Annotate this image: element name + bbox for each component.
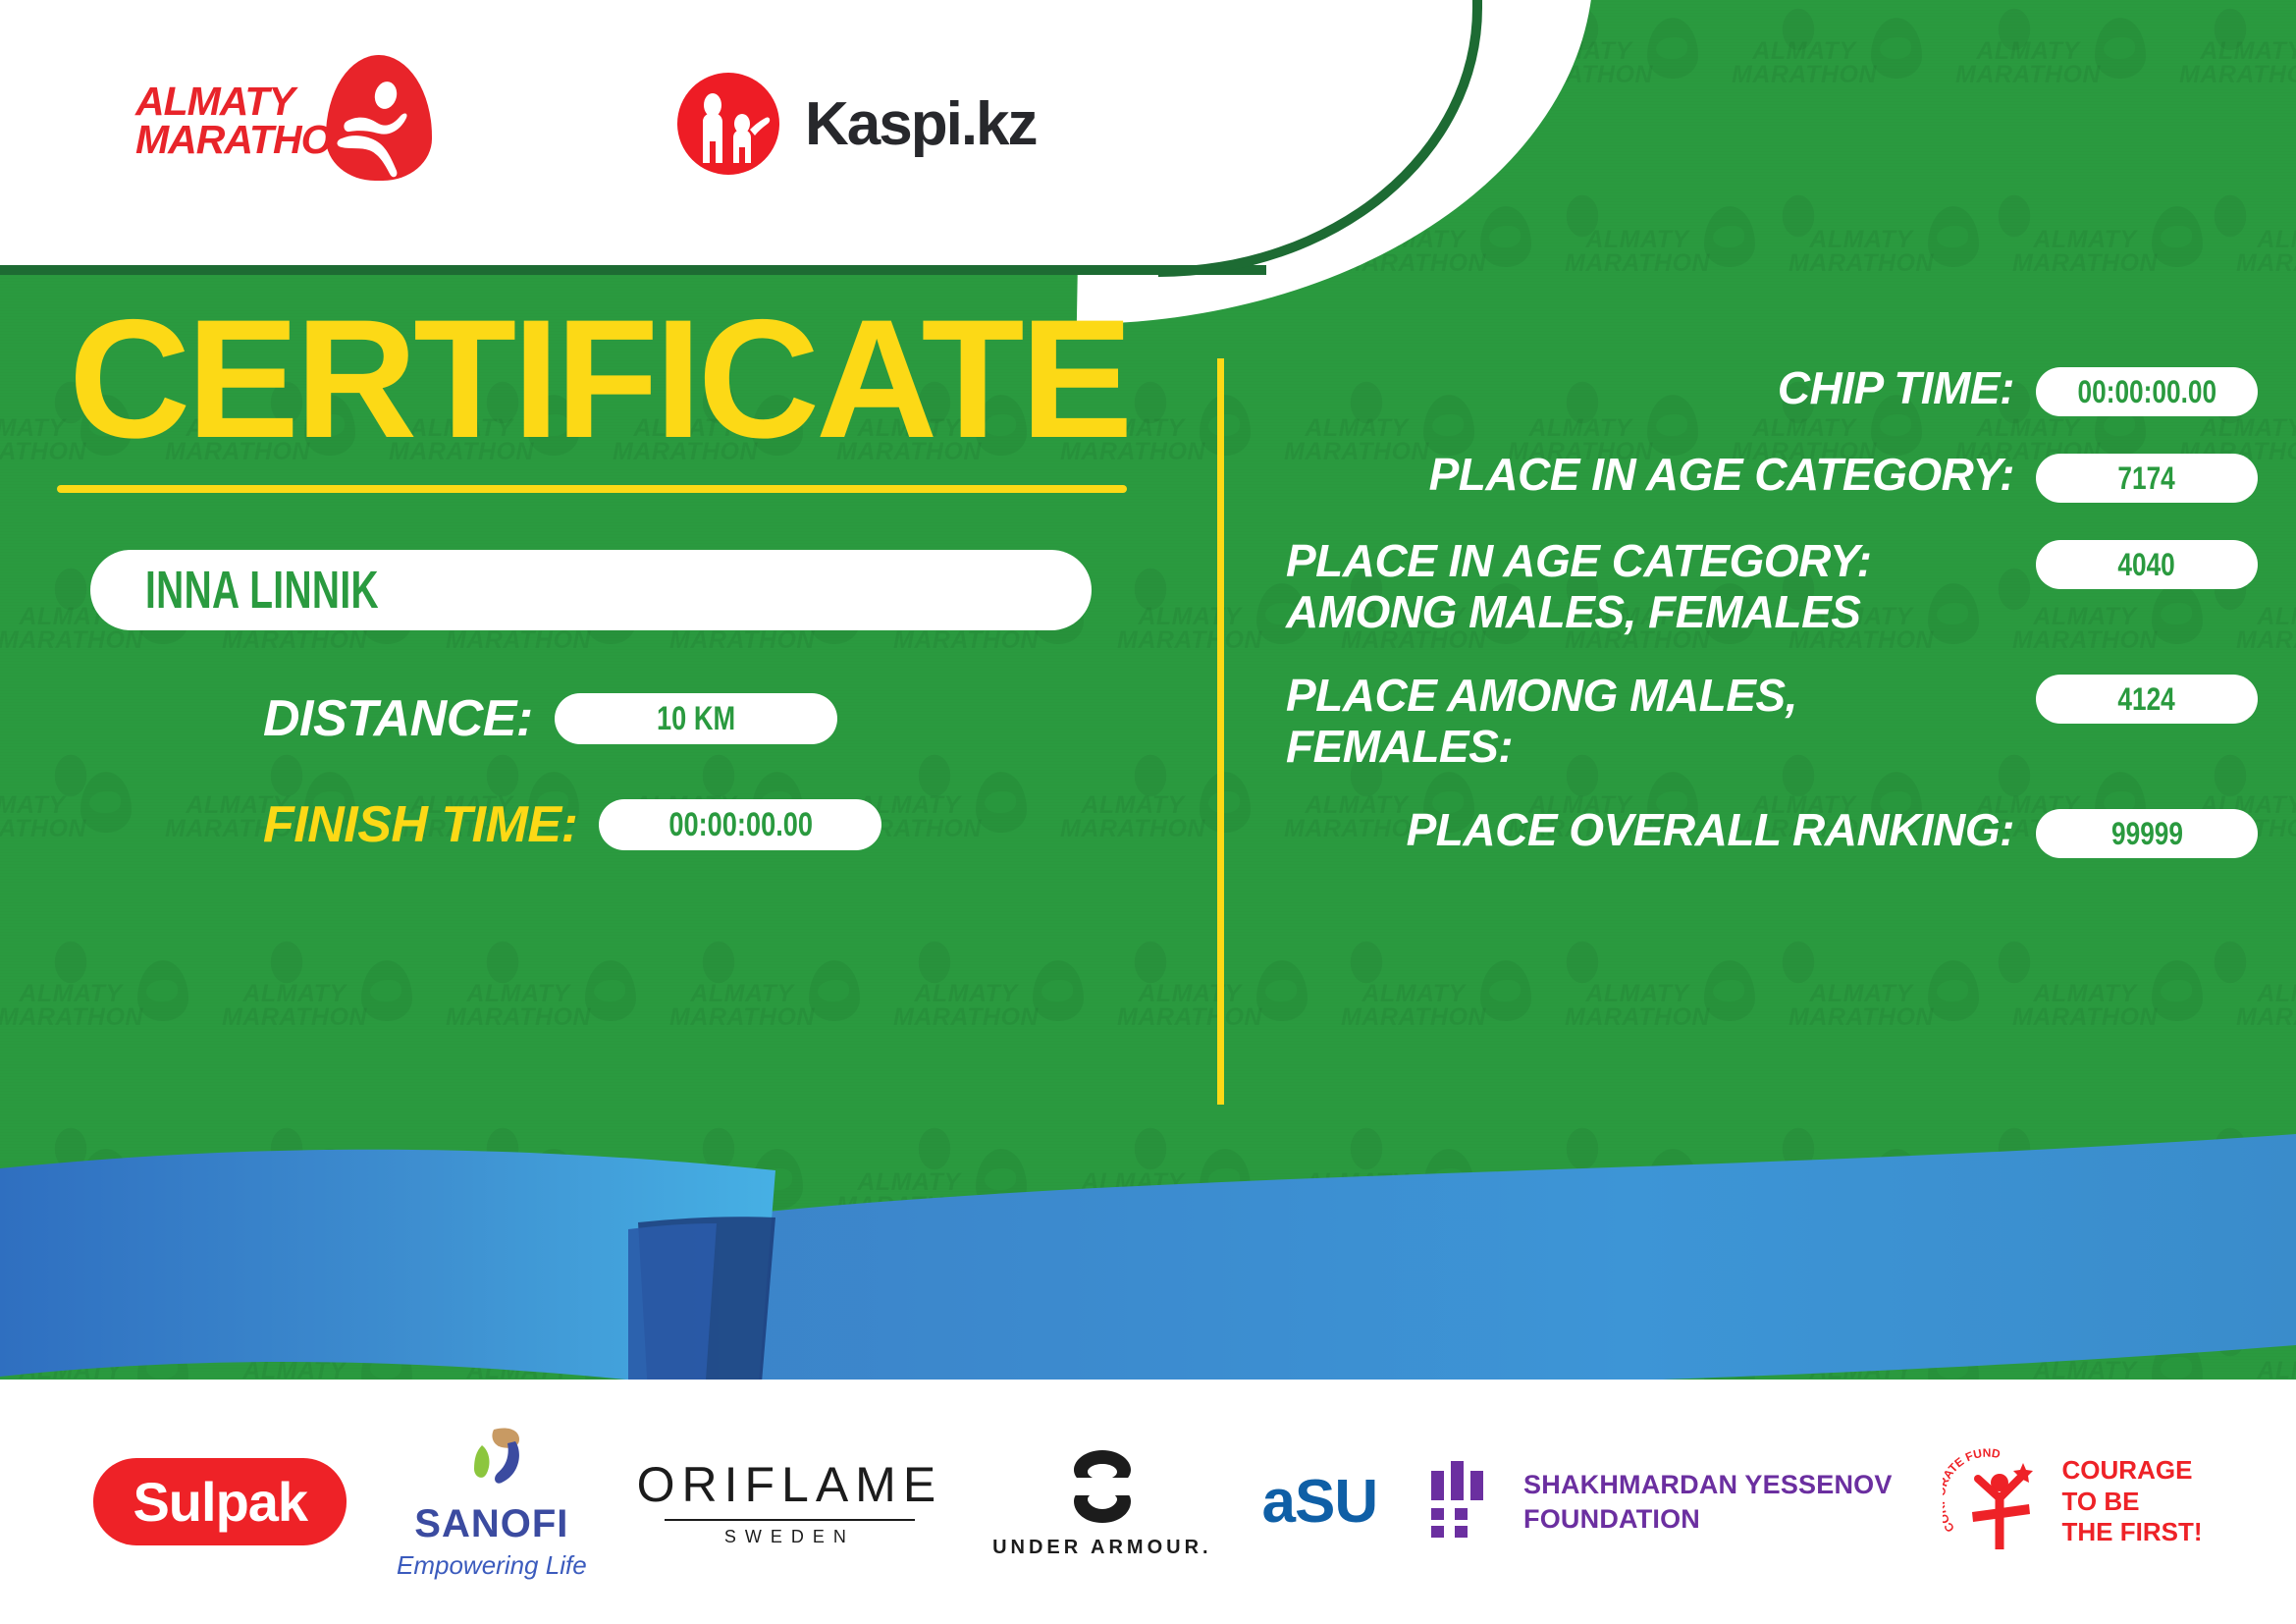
event-ribbon: APRIL 21 st RUN FOR SENSATIONS: [0, 1100, 2296, 1394]
watermark-tile: ALMATYMARATHON: [1117, 982, 1262, 1029]
sanofi-wordmark: SANOFI: [414, 1502, 568, 1546]
watermark-tile: ALMATYMARATHON: [2236, 228, 2296, 275]
under-armour-mark-icon: [1029, 1444, 1176, 1527]
yessenov-mark-icon: [1427, 1457, 1498, 1547]
watermark-tile: ALMATYMARATHON: [2179, 39, 2296, 86]
under-armour-logo: UNDER ARMOUR.: [992, 1444, 1211, 1559]
place-age-category-gender-label: PLACE IN AGE CATEGORY: AMONG MALES, FEMA…: [1276, 536, 2014, 637]
right-column: CHIP TIME: 00:00:00.00 PLACE IN AGE CATE…: [1276, 363, 2258, 892]
kaspi-people-icon: [677, 73, 779, 175]
distance-row: DISTANCE: 10 KM: [263, 689, 1207, 748]
watermark-tile: ALMATYMARATHON: [1789, 982, 1934, 1029]
place-age-category-gender-value-field: 4040: [2036, 540, 2258, 589]
place-age-category-row: PLACE IN AGE CATEGORY: 7174: [1276, 450, 2258, 503]
page-title: CERTIFICATE: [0, 295, 1207, 463]
place-age-category-gender-value: 4040: [2118, 547, 2175, 583]
header-underline: [0, 265, 1266, 275]
courage-fund-logo: CORPORATE FUND COURAGE TO BE THE FIRST!: [1943, 1447, 2203, 1557]
distance-value: 10 KM: [657, 700, 735, 738]
watermark-tile: ALMATYMARATHON: [1341, 982, 1486, 1029]
place-age-category-value: 7174: [2118, 460, 2175, 497]
chip-time-value-field: 00:00:00.00: [2036, 367, 2258, 416]
watermark-tile: ALMATYMARATHON: [1789, 228, 1934, 275]
place-age-category-label: PLACE IN AGE CATEGORY:: [1276, 450, 2014, 501]
sanofi-logo: SANOFI Empowering Life: [397, 1424, 587, 1581]
watermark-tile: ALMATYMARATHON: [2012, 982, 2158, 1029]
distance-label: DISTANCE:: [263, 689, 533, 748]
oriflame-wordmark: ORIFLAME: [637, 1456, 943, 1513]
watermark-tile: ALMATYMARATHON: [1732, 39, 1877, 86]
finish-time-row: FINISH TIME: 00:00:00.00: [263, 795, 1207, 854]
yessenov-wordmark: SHAKHMARDAN YESSENOV FOUNDATION: [1523, 1468, 1893, 1536]
title-underline: [57, 485, 1127, 493]
chip-time-value: 00:00:00.00: [2077, 374, 2216, 410]
kaspi-logo: Kaspi.kz: [677, 67, 1090, 181]
column-divider: [1217, 358, 1224, 1105]
chip-time-label: CHIP TIME:: [1276, 363, 2014, 414]
participant-name-field: INNA LINNIK: [90, 550, 1092, 630]
watermark-tile: ALMATYMARATHON: [0, 982, 143, 1029]
place-overall-row: PLACE OVERALL RANKING: 99999: [1276, 805, 2258, 858]
watermark-tile: ALMATYMARATHON: [222, 982, 367, 1029]
watermark-tile: ALMATYMARATHON: [1955, 39, 2101, 86]
oriflame-subtitle: SWEDEN: [724, 1527, 855, 1547]
oriflame-rule: [665, 1519, 915, 1521]
kaspi-wordmark: Kaspi.kz: [805, 89, 1037, 159]
finish-time-value: 00:00:00.00: [668, 806, 813, 844]
place-among-gender-label: PLACE AMONG MALES, FEMALES:: [1276, 671, 2014, 772]
watermark-tile: ALMATYMARATHON: [1565, 982, 1710, 1029]
courage-fund-wordmark: COURAGE TO BE THE FIRST!: [2062, 1455, 2203, 1548]
place-overall-value: 99999: [2111, 816, 2183, 852]
watermark-tile: ALMATYMARATHON: [669, 982, 815, 1029]
place-overall-label: PLACE OVERALL RANKING:: [1276, 805, 2014, 856]
watermark-tile: ALMATYMARATHON: [2236, 982, 2296, 1029]
place-age-category-value-field: 7174: [2036, 454, 2258, 503]
chip-time-row: CHIP TIME: 00:00:00.00: [1276, 363, 2258, 416]
sanofi-mark-icon: [445, 1424, 539, 1498]
under-armour-wordmark: UNDER ARMOUR.: [992, 1537, 1211, 1559]
runner-figure-icon: [328, 61, 430, 187]
yessenov-foundation-logo: SHAKHMARDAN YESSENOV FOUNDATION: [1427, 1457, 1893, 1547]
sanofi-tagline: Empowering Life: [397, 1550, 587, 1581]
sponsor-bar: Sulpak SANOFI Empowering Life ORIFLAME S…: [0, 1380, 2296, 1624]
courage-fund-mark-icon: CORPORATE FUND: [1943, 1447, 2049, 1557]
place-among-gender-row: PLACE AMONG MALES, FEMALES: 4124: [1276, 671, 2258, 772]
place-among-gender-value: 4124: [2118, 681, 2175, 718]
participant-name-value: INNA LINNIK: [145, 560, 379, 621]
ribbon-shape: [0, 1100, 2296, 1394]
left-column: CERTIFICATE INNA LINNIK DISTANCE: 10 KM …: [0, 295, 1207, 854]
finish-time-label: FINISH TIME:: [263, 795, 577, 854]
sulpak-wordmark: Sulpak: [93, 1458, 347, 1545]
place-among-gender-value-field: 4124: [2036, 675, 2258, 724]
almaty-marathon-logo: ALMATY MARATHON: [118, 61, 442, 189]
sulpak-logo: Sulpak: [93, 1458, 347, 1545]
watermark-tile: ALMATYMARATHON: [446, 982, 591, 1029]
place-age-category-gender-row: PLACE IN AGE CATEGORY: AMONG MALES, FEMA…: [1276, 536, 2258, 637]
watermark-tile: ALMATYMARATHON: [2012, 228, 2158, 275]
watermark-tile: ALMATYMARATHON: [893, 982, 1039, 1029]
distance-value-field: 10 KM: [555, 693, 837, 744]
finish-time-value-field: 00:00:00.00: [599, 799, 881, 850]
asu-wordmark: aSU: [1262, 1467, 1378, 1537]
asu-logo: aSU: [1262, 1467, 1378, 1537]
place-overall-value-field: 99999: [2036, 809, 2258, 858]
certificate-canvas: ALMATYMARATHONALMATYMARATHONALMATYMARATH…: [0, 0, 2296, 1624]
oriflame-logo: ORIFLAME SWEDEN: [637, 1456, 943, 1547]
watermark-tile: ALMATYMARATHON: [1565, 228, 1710, 275]
